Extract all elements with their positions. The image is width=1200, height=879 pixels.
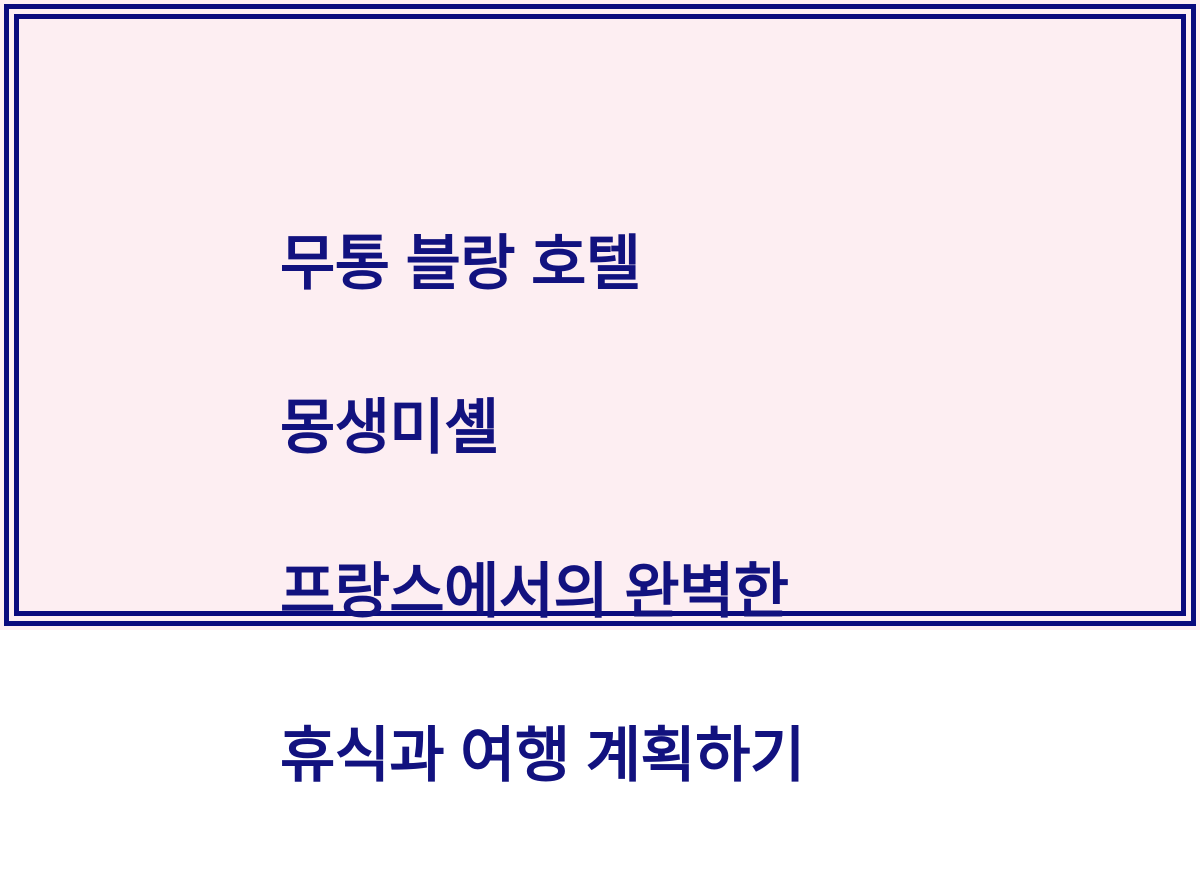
page-title: 무통 블랑 호텔 몽생미셸 프랑스에서의 완벽한 휴식과 여행 계획하기 (280, 141, 1160, 879)
page-title-line-4: 휴식과 여행 계획하기 (280, 715, 1160, 797)
page-title-line-2: 몽생미셸 (280, 387, 1160, 469)
outer-navy-border: 무통 블랑 호텔 몽생미셸 프랑스에서의 완벽한 휴식과 여행 계획하기 (4, 4, 1196, 626)
page-title-line-1: 무통 블랑 호텔 (280, 223, 1160, 305)
page-title-line-3: 프랑스에서의 완벽한 (280, 551, 1160, 633)
og-image-card: 무통 블랑 호텔 몽생미셸 프랑스에서의 완벽한 휴식과 여행 계획하기 (0, 0, 1200, 630)
inner-navy-border: 무통 블랑 호텔 몽생미셸 프랑스에서의 완벽한 휴식과 여행 계획하기 (14, 14, 1186, 616)
